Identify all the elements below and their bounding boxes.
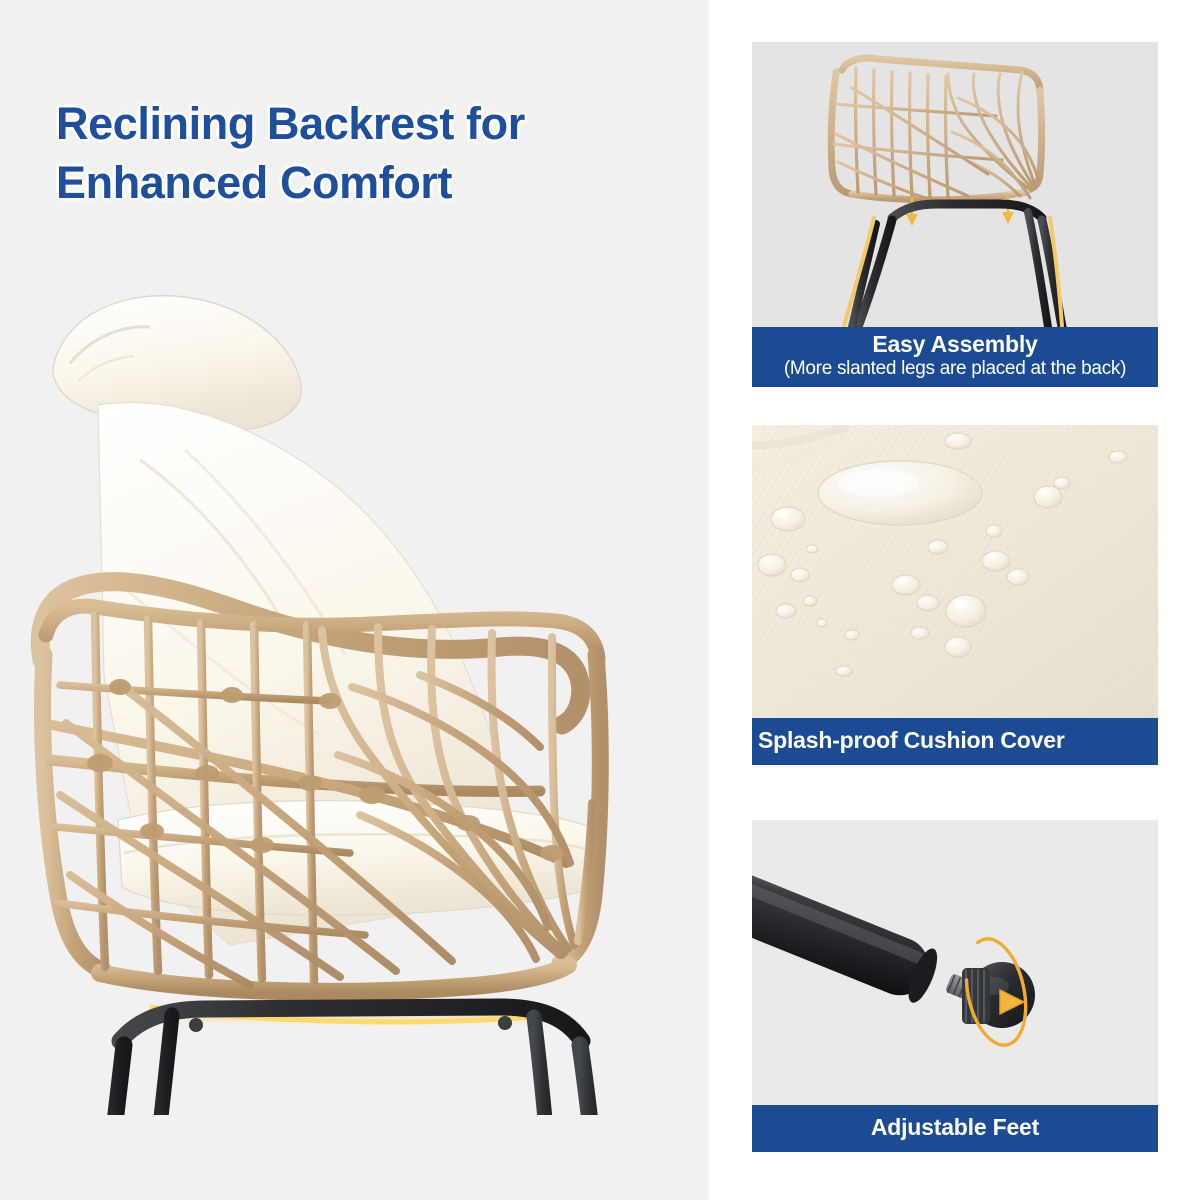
page-title: Reclining Backrest for Enhanced Comfort [56,95,676,212]
caption-cushion-title: Splash-proof Cushion Cover [758,727,1152,754]
caption-feet-title: Adjustable Feet [758,1114,1152,1141]
caption-cushion: Splash-proof Cushion Cover [752,718,1158,765]
caption-assembly-title: Easy Assembly [758,331,1152,358]
assembly-diagram-image [752,42,1158,327]
feature-panel-assembly[interactable]: Easy Assembly (More slanted legs are pla… [752,42,1158,387]
feature-panel-cushion[interactable]: Splash-proof Cushion Cover [752,425,1158,765]
feature-panel-column: Easy Assembly (More slanted legs are pla… [709,0,1200,1200]
infographic-page: Reclining Backrest for Enhanced Comfort [0,0,1200,1200]
adjustable-foot-image [752,820,1158,1105]
water-droplet-fabric-image [752,425,1158,718]
caption-feet: Adjustable Feet [752,1105,1158,1152]
caption-assembly-subtitle: (More slanted legs are placed at the bac… [758,358,1152,380]
product-image-chair [0,255,709,1115]
caption-assembly: Easy Assembly (More slanted legs are pla… [752,327,1158,387]
hero-panel: Reclining Backrest for Enhanced Comfort [0,0,709,1200]
feature-panel-feet[interactable]: Adjustable Feet [752,820,1158,1152]
